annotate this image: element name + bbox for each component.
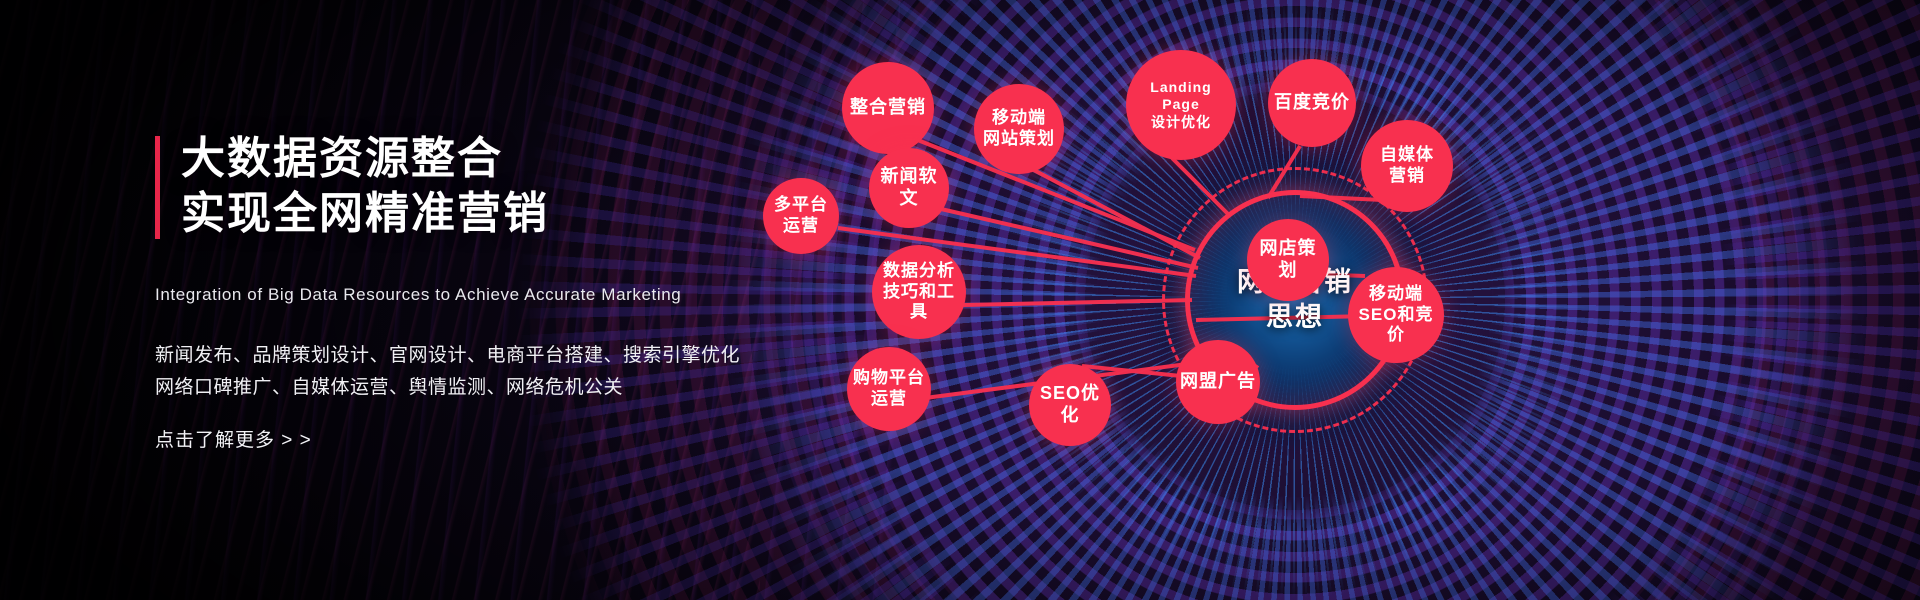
diagram-node[interactable]: Landing Page设计优化	[1126, 50, 1236, 160]
service-list-line-2: 网络口碑推广、自媒体运营、舆情监测、网络危机公关	[155, 372, 740, 404]
diagram-node-label-line-2: 运营	[770, 216, 832, 237]
service-list: 新闻发布、品牌策划设计、官网设计、电商平台搭建、搜索引擎优化 网络口碑推广、自媒…	[155, 340, 740, 404]
diagram-node[interactable]: 自媒体营销	[1361, 120, 1453, 212]
diagram-node[interactable]: 新闻软文	[869, 148, 949, 228]
page-title: 大数据资源整合 实现全网精准营销	[181, 131, 549, 241]
diagram-node-label-line-1: Landing Page	[1126, 79, 1236, 113]
diagram-node-label-line-1: 网店策划	[1247, 238, 1329, 282]
diagram-node-label: 新闻软文	[869, 166, 949, 210]
diagram-node-label-line-1: 百度竞价	[1270, 92, 1354, 114]
diagram-node-label-line-1: 移动端	[979, 108, 1059, 129]
diagram-node-label-line-2: 营销	[1376, 166, 1438, 187]
headline-line-2: 实现全网精准营销	[181, 186, 549, 241]
diagram-node-label: Landing Page设计优化	[1126, 79, 1236, 130]
diagram-node-label-line-1: 购物平台	[849, 368, 929, 389]
diagram-node-label-line-2: SEO和竞价	[1348, 305, 1444, 346]
diagram-node-label: 百度竞价	[1270, 92, 1354, 114]
diagram-node-label: SEO优化	[1029, 383, 1111, 427]
diagram-node-label-line-2: 设计优化	[1126, 114, 1236, 131]
diagram-node[interactable]: 多平台运营	[763, 178, 839, 254]
diagram-node-label: 购物平台运营	[849, 368, 929, 409]
diagram-node-label-line-1: SEO优化	[1029, 383, 1111, 427]
headline-line-1: 大数据资源整合	[181, 131, 549, 186]
diagram-node-label: 多平台运营	[770, 195, 832, 236]
diagram-node[interactable]: 购物平台运营	[847, 347, 931, 431]
diagram-node-label-line-2: 技巧和工具	[872, 282, 966, 323]
diagram-node-label-line-1: 新闻软文	[869, 166, 949, 210]
learn-more-link[interactable]: 点击了解更多 > >	[155, 425, 312, 452]
hub-label-line-2: 思想	[1237, 300, 1353, 335]
diagram-node-label-line-2: 网站策划	[979, 129, 1059, 150]
diagram-node[interactable]: 百度竞价	[1268, 59, 1356, 147]
accent-bar	[155, 136, 160, 239]
diagram-node-label: 自媒体营销	[1376, 145, 1438, 186]
diagram-node-label-line-1: 自媒体	[1376, 145, 1438, 166]
diagram-node-label-line-1: 网盟广告	[1176, 371, 1260, 393]
diagram-node-label: 整合营销	[846, 97, 930, 119]
diagram-node-label: 网店策划	[1247, 238, 1329, 282]
diagram-node[interactable]: SEO优化	[1029, 364, 1111, 446]
diagram-node[interactable]: 网盟广告	[1176, 340, 1260, 424]
diagram-node-label: 数据分析技巧和工具	[872, 261, 966, 323]
diagram-node[interactable]: 网店策划	[1247, 219, 1329, 301]
diagram-node[interactable]: 移动端SEO和竞价	[1348, 267, 1444, 363]
text-panel: 大数据资源整合 实现全网精准营销 Integration of Big Data…	[0, 0, 760, 600]
diagram-node[interactable]: 整合营销	[842, 62, 934, 154]
diagram-node-label-line-1: 多平台	[770, 195, 832, 216]
diagram-node-label-line-1: 移动端	[1348, 284, 1444, 305]
diagram-node-label-line-2: 运营	[849, 389, 929, 410]
diagram-node-label-line-1: 整合营销	[846, 97, 930, 119]
diagram-node[interactable]: 移动端网站策划	[974, 84, 1064, 174]
diagram-node-label: 移动端网站策划	[979, 108, 1059, 149]
diagram-node[interactable]: 数据分析技巧和工具	[872, 245, 966, 339]
diagram-node-label: 网盟广告	[1176, 371, 1260, 393]
diagram-node-label-line-1: 数据分析	[872, 261, 966, 282]
subtitle: Integration of Big Data Resources to Ach…	[155, 285, 681, 305]
service-list-line-1: 新闻发布、品牌策划设计、官网设计、电商平台搭建、搜索引擎优化	[155, 340, 740, 372]
diagram-node-label: 移动端SEO和竞价	[1348, 284, 1444, 346]
marketing-banner: 大数据资源整合 实现全网精准营销 Integration of Big Data…	[0, 0, 1920, 600]
